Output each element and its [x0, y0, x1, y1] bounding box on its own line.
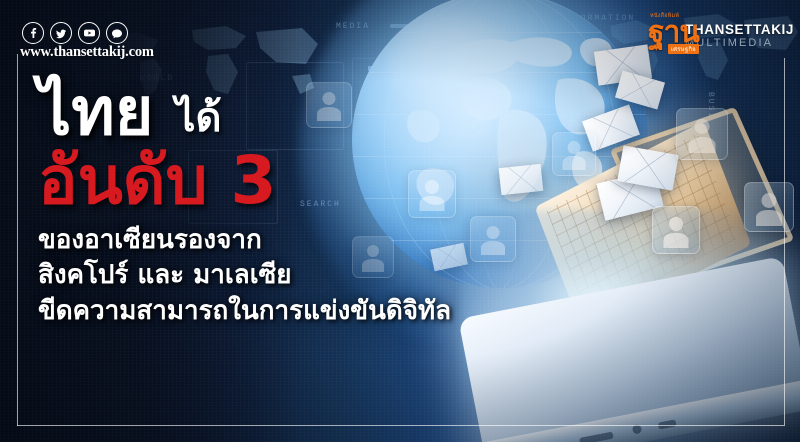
- headline-thailand: ไทย: [38, 80, 153, 143]
- news-graphic-canvas: MEDIA LOADING INFORMATION WORLD BUSINESS…: [0, 0, 800, 442]
- headline-subtext: ของอาเซียนรองจาก สิงคโปร์ และ มาเลเซีย ข…: [38, 223, 558, 329]
- headline-block: ไทย ได้ อันดับ 3 ของอาเซียนรองจาก สิงคโป…: [38, 80, 558, 329]
- frame-border-bottom: [17, 425, 784, 426]
- headline-rank: อันดับ 3: [38, 147, 558, 214]
- logo-sub: MULTIMEDIA: [685, 38, 794, 49]
- subtext-line-2: สิงคโปร์ และ มาเลเซีย: [38, 258, 558, 293]
- subtext-line-3: ขีดความสามารถในการแข่งขันดิจิทัล: [38, 294, 558, 329]
- chat-icon[interactable]: [106, 22, 128, 44]
- frame-border-left: [17, 54, 18, 426]
- twitter-icon[interactable]: [50, 22, 72, 44]
- facebook-icon[interactable]: [22, 22, 44, 44]
- subtext-line-1: ของอาเซียนรองจาก: [38, 223, 558, 258]
- headline-got: ได้: [175, 98, 221, 143]
- logo-wordmark: THANSETTAKIJ MULTIMEDIA: [685, 17, 794, 49]
- social-links[interactable]: [22, 22, 128, 44]
- logo-name: THANSETTAKIJ: [685, 23, 794, 37]
- thansettakij-logo[interactable]: หนังสือพิมพ์ ฐาน เศรษฐกิจ THANSETTAKIJ M…: [648, 10, 794, 56]
- headline-row-1: ไทย ได้: [38, 80, 558, 143]
- frame-border-right: [784, 58, 785, 426]
- logo-mark: หนังสือพิมพ์ ฐาน เศรษฐกิจ: [648, 11, 679, 55]
- logo-tiny-bottom: เศรษฐกิจ: [668, 44, 699, 54]
- youtube-icon[interactable]: [78, 22, 100, 44]
- website-url[interactable]: www.thansettakij.com: [20, 44, 154, 61]
